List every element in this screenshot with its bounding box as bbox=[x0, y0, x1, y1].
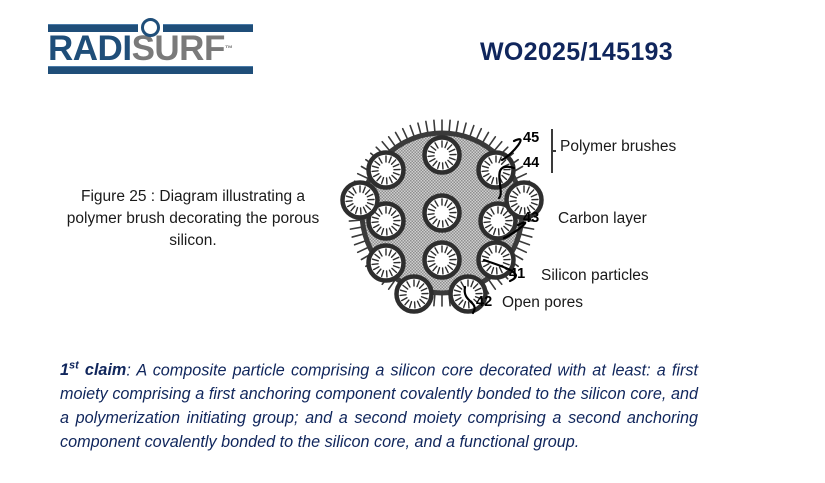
bracket-tick bbox=[551, 150, 556, 152]
logo-text-radi: RADI bbox=[48, 29, 132, 68]
claim-lead: 1st claim bbox=[60, 361, 126, 379]
polymer-brushes-bracket bbox=[548, 129, 556, 173]
trademark-icon: ™ bbox=[225, 44, 233, 53]
label-polymer-brushes: Polymer brushes bbox=[560, 138, 676, 156]
callout-number-45: 45 bbox=[523, 130, 539, 146]
figure-caption: Figure 25 : Diagram illustrating a polym… bbox=[62, 186, 324, 252]
claim-lead-number: 1 bbox=[60, 361, 69, 379]
label-carbon-layer: Carbon layer bbox=[558, 210, 647, 228]
patent-number: WO2025/145193 bbox=[480, 38, 673, 67]
claim-body: : A composite particle comprising a sili… bbox=[60, 361, 698, 451]
callout-number-43: 43 bbox=[523, 210, 539, 226]
callout-number-41: 41 bbox=[509, 266, 525, 282]
label-silicon-particles: Silicon particles bbox=[541, 267, 649, 285]
callout-number-42: 42 bbox=[476, 294, 492, 310]
claim-lead-word: claim bbox=[79, 361, 127, 379]
radisurf-logo: RADISURF™ bbox=[48, 24, 253, 74]
callout-number-44: 44 bbox=[523, 155, 539, 171]
first-claim-paragraph: 1st claim: A composite particle comprisi… bbox=[60, 358, 698, 455]
label-open-pores: Open pores bbox=[502, 294, 583, 312]
claim-lead-suffix: st bbox=[69, 360, 79, 372]
logo-circle-icon bbox=[141, 18, 160, 37]
logo-bottom-bar bbox=[48, 66, 253, 74]
